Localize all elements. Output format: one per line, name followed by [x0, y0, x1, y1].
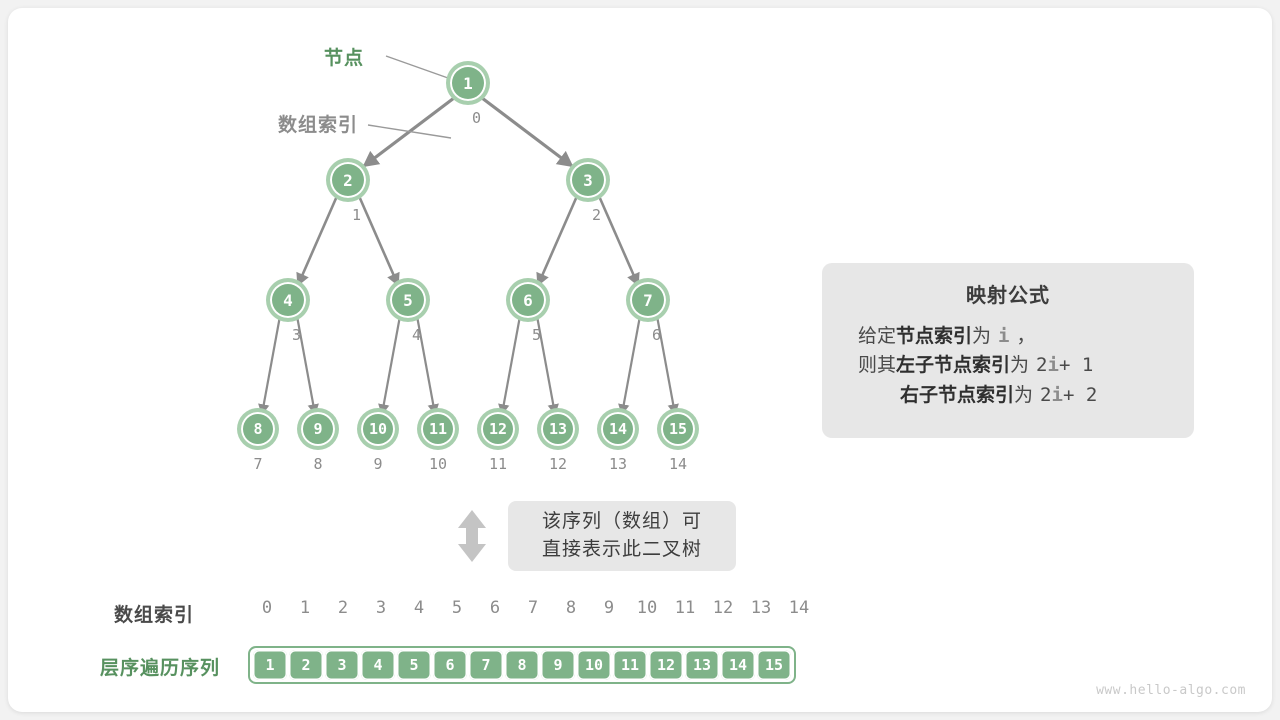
array-value-cell: 12: [649, 650, 683, 680]
array-index-cell: 0: [248, 598, 286, 618]
array-index-cell: 7: [514, 598, 552, 618]
formula-l3-num: 2: [1033, 381, 1051, 410]
callout-node-label: 节点: [324, 43, 364, 70]
tree-node-value: 2: [343, 171, 353, 190]
array-index-cell: 4: [400, 598, 438, 618]
tree-node-value: 4: [283, 291, 293, 310]
array-value-cell: 6: [433, 650, 467, 680]
tree-node-index-5: 5: [532, 326, 541, 344]
tree-node-value: 11: [429, 420, 447, 438]
tree-node-value: 12: [489, 420, 507, 438]
tree-node-index-1: 1: [352, 206, 361, 224]
tree-node-8: 8: [241, 412, 275, 446]
array-index-cell: 13: [742, 598, 780, 618]
tree-node-1: 1: [450, 65, 486, 101]
tree-node-value: 15: [669, 420, 687, 438]
formula-l2-c: 为: [1010, 351, 1029, 380]
watermark: www.hello-algo.com: [1096, 683, 1246, 698]
tree-node-index-13: 13: [604, 455, 632, 473]
tree-node-index-4: 4: [412, 326, 421, 344]
array-value-cell: 10: [577, 650, 611, 680]
formula-l2-b: 左子节点索引: [896, 351, 1010, 380]
array-index-row-label: 数组索引: [114, 600, 194, 627]
array-index-cell: 10: [628, 598, 666, 618]
tree-node-11: 11: [421, 412, 455, 446]
tree-node-value: 6: [523, 291, 533, 310]
tree-node-index-11: 11: [484, 455, 512, 473]
sequence-note-box: 该序列（数组）可 直接表示此二叉树: [508, 501, 736, 571]
array-value-cell: 7: [469, 650, 503, 680]
array-index-row: 01234567891011121314: [248, 598, 818, 618]
formula-l2-var: i: [1048, 351, 1059, 380]
diagram-stage: 节点 数组索引 10213243546576879810911101211131…: [8, 8, 1272, 712]
array-index-cell: 8: [552, 598, 590, 618]
array-index-cell: 3: [362, 598, 400, 618]
formula-line-2: 则其左子节点索引为2i + 1: [840, 351, 1176, 380]
tree-node-3: 3: [570, 162, 606, 198]
tree-node-15: 15: [661, 412, 695, 446]
array-index-cell: 1: [286, 598, 324, 618]
tree-node-5: 5: [390, 282, 426, 318]
array-value-cell: 14: [721, 650, 755, 680]
tree-node-4: 4: [270, 282, 306, 318]
tree-node-13: 13: [541, 412, 575, 446]
tree-node-7: 7: [630, 282, 666, 318]
tree-node-value: 7: [643, 291, 653, 310]
tree-node-value: 5: [403, 291, 413, 310]
tree-node-6: 6: [510, 282, 546, 318]
formula-l1-c: 为: [972, 322, 991, 351]
formula-l1-d: ，: [1017, 322, 1036, 351]
formula-l3-var: i: [1051, 381, 1062, 410]
tree-node-14: 14: [601, 412, 635, 446]
array-value-cell: 15: [757, 650, 791, 680]
tree-node-index-12: 12: [544, 455, 572, 473]
array-index-cell: 6: [476, 598, 514, 618]
array-index-cell: 14: [780, 598, 818, 618]
level-order-sequence-label: 层序遍历序列: [100, 653, 220, 680]
array-index-cell: 2: [324, 598, 362, 618]
tree-node-value: 13: [549, 420, 567, 438]
array-index-cell: 12: [704, 598, 742, 618]
tree-node-index-14: 14: [664, 455, 692, 473]
mapping-formula-box: 映射公式 给定节点索引为i， 则其左子节点索引为2i + 1 右子节点索引为2i…: [822, 263, 1194, 438]
array-value-cell: 2: [289, 650, 323, 680]
array-index-cell: 11: [666, 598, 704, 618]
tree-node-index-8: 8: [304, 455, 332, 473]
tree-node-index-2: 2: [592, 206, 601, 224]
array-cells: 123456789101112131415: [248, 646, 796, 684]
tree-node-10: 10: [361, 412, 395, 446]
array-value-cell: 8: [505, 650, 539, 680]
tree-node-9: 9: [301, 412, 335, 446]
formula-line-3: 右子节点索引为2i + 2: [840, 381, 1176, 410]
array-value-cell: 5: [397, 650, 431, 680]
formula-l1-b: 节点索引: [896, 322, 972, 351]
formula-l2-tail: + 1: [1059, 351, 1093, 380]
formula-line-1: 给定节点索引为i，: [840, 322, 1176, 351]
tree-node-index-9: 9: [364, 455, 392, 473]
array-value-cell: 4: [361, 650, 395, 680]
tree-node-value: 14: [609, 420, 627, 438]
note-line-2: 直接表示此二叉树: [542, 536, 702, 564]
array-value-cell: 11: [613, 650, 647, 680]
tree-node-index-6: 6: [652, 326, 661, 344]
tree-node-index-3: 3: [292, 326, 301, 344]
formula-l1-a: 给定: [858, 322, 896, 351]
tree-node-index-10: 10: [424, 455, 452, 473]
tree-node-2: 2: [330, 162, 366, 198]
array-value-cell: 9: [541, 650, 575, 680]
diagram-card: 节点 数组索引 10213243546576879810911101211131…: [8, 8, 1272, 712]
tree-node-value: 8: [253, 420, 262, 438]
formula-l3-b: 右子节点索引: [900, 381, 1014, 410]
tree-node-12: 12: [481, 412, 515, 446]
array-value-cell: 1: [253, 650, 287, 680]
formula-l2-num: 2: [1029, 351, 1047, 380]
tree-node-index-0: 0: [472, 109, 481, 127]
formula-l1-var: i: [991, 322, 1016, 351]
note-line-1: 该序列（数组）可: [542, 508, 702, 536]
formula-l3-tail: + 2: [1063, 381, 1097, 410]
array-index-cell: 5: [438, 598, 476, 618]
array-index-cell: 9: [590, 598, 628, 618]
up-down-arrow-icon: [454, 508, 490, 564]
formula-l2-a: 则其: [858, 351, 896, 380]
callout-array-index-label: 数组索引: [278, 110, 358, 137]
array-value-cell: 3: [325, 650, 359, 680]
tree-node-value: 9: [313, 420, 322, 438]
tree-node-value: 10: [369, 420, 387, 438]
array-value-cell: 13: [685, 650, 719, 680]
formula-title: 映射公式: [840, 279, 1176, 308]
tree-node-value: 3: [583, 171, 593, 190]
tree-node-value: 1: [463, 74, 473, 93]
formula-l3-c: 为: [1014, 381, 1033, 410]
tree-node-index-7: 7: [244, 455, 272, 473]
